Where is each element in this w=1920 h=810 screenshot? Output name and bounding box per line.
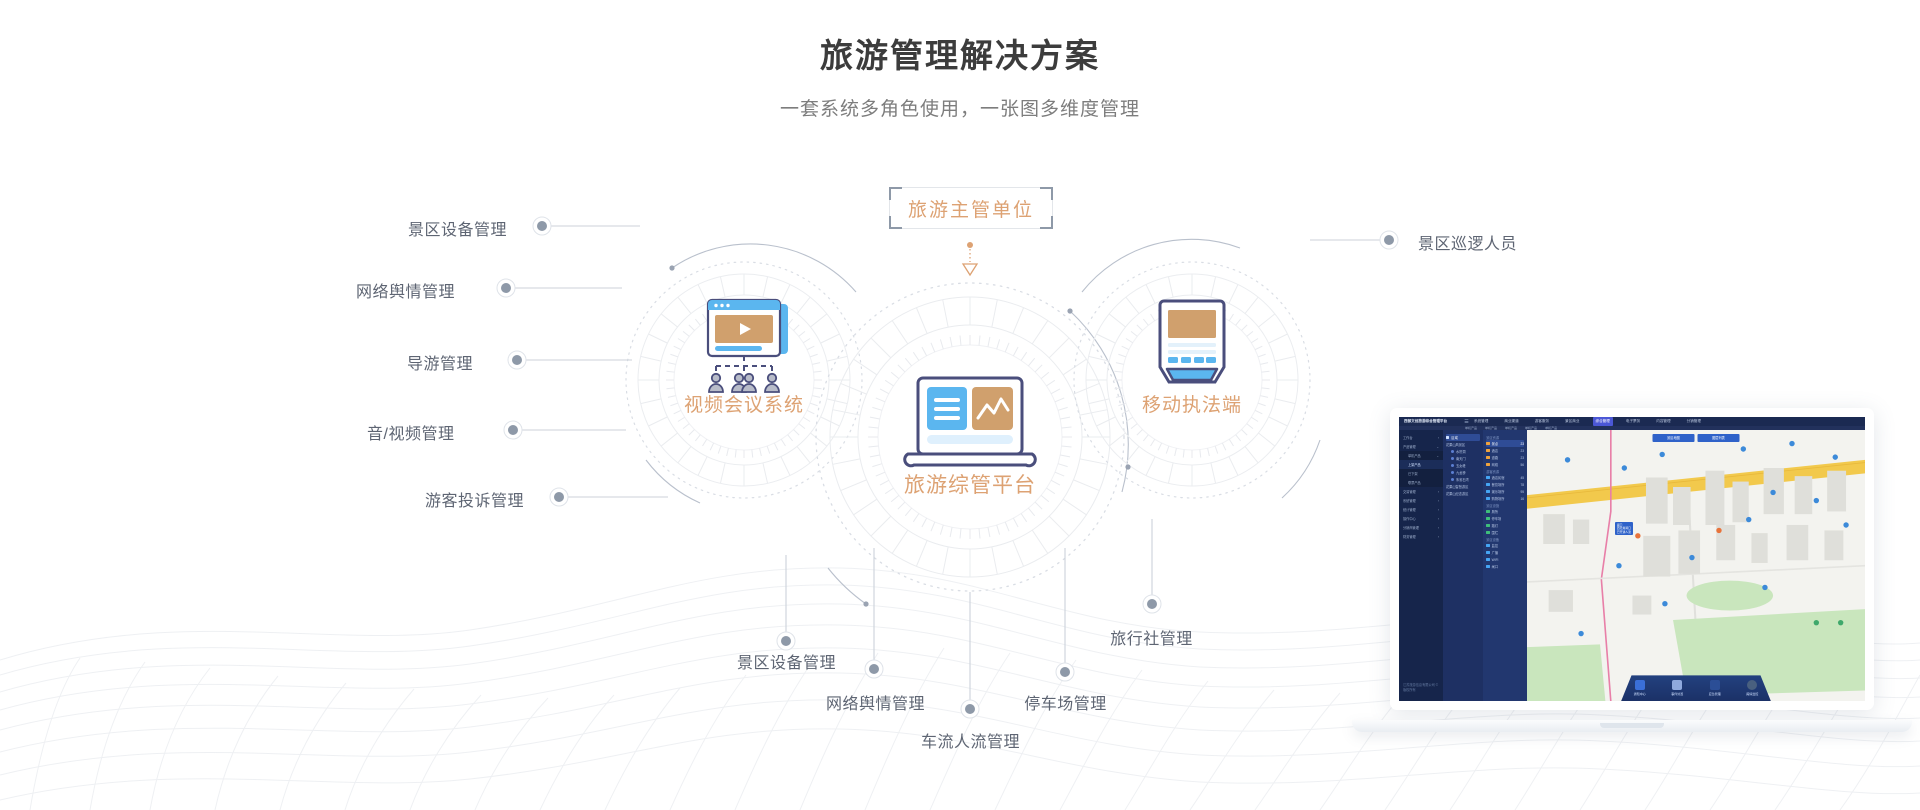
chevron-down-icon-2: ⌄ [1436,454,1439,458]
mock-nav-item-2[interactable]: 游客服务 [1532,417,1552,426]
left-label-2[interactable]: 导游管理 [407,350,473,374]
mock-legend-item-2-2[interactable]: 路灯 [1486,522,1524,529]
hamburger-icon[interactable]: ☰ [1462,419,1471,425]
mock-app-nav: 系统管理 商业渠道 游客服务 景区商业 综合管理 电子票务 内容管理 分销管理 [1471,417,1704,426]
corner-bottom-right [1040,216,1053,229]
mock-legend-item-2-0[interactable]: 厕所 [1486,508,1524,515]
left-label-1[interactable]: 网络舆情管理 [356,278,455,302]
mock-map-control-0[interactable]: 景区地图 [1653,434,1695,442]
mock-nav-item-0[interactable]: 系统管理 [1471,417,1491,426]
mock-legend-item-3-1[interactable]: 广播 [1486,549,1524,556]
laptop-dashboard-icon [905,378,1036,466]
mock-legend-item-3-2[interactable]: WIFI [1486,556,1524,563]
mock-map-graphics [1527,430,1865,701]
mock-tree-child-3[interactable]: 九龙桥 [1446,469,1480,476]
left-ring-group [626,244,862,503]
laptop-screen-content: 西部文创旅游综合管理平台 ☰ 系统管理 商业渠道 游客服务 景区商业 综合管理 … [1399,417,1865,701]
mock-sidebar-label-5: 联票产品 [1408,480,1421,485]
laptop-notch [1600,723,1664,728]
mock-legend-item-1-3[interactable]: 购物场所16 [1486,495,1524,502]
mock-sidebar-label-4: 已下架 [1408,471,1418,476]
chevron-right-icon: › [1438,436,1439,440]
mock-app: 西部文创旅游综合管理平台 ☰ 系统管理 商业渠道 游客服务 景区商业 综合管理 … [1399,417,1865,701]
node-label-mobile-enforcement[interactable]: 移动执法端 [1092,390,1292,417]
mock-sidebar-item-4[interactable]: 已下架 [1399,469,1443,478]
department-box[interactable]: 旅游主管单位 [889,187,1053,229]
mock-sidebar-item-10[interactable]: 分销商管理› [1399,523,1443,532]
mock-legend-item-1-1[interactable]: 餐饮场所78 [1486,481,1524,488]
mock-map-control-1[interactable]: 图层列表 [1698,434,1740,442]
mock-sidebar-item-8[interactable]: 统计管理› [1399,505,1443,514]
video-conference-icon [708,300,788,392]
mock-sidebar-footer: 江苏旅游信息有限公司 © 版权所有 [1399,679,1443,701]
mock-nav-item-4[interactable]: 综合管理 [1593,417,1613,426]
mock-sidebar-label-11: 财务管理 [1403,534,1416,539]
corner-bottom-left [889,216,902,229]
mock-map-canvas[interactable]: 景区地图 图层列表 闸口 西北角闸口 已开通人流 通知中心 事件处置 应急管理 … [1527,430,1865,701]
mock-sidebar-item-2[interactable]: 单机产品⌄ [1399,451,1443,460]
handheld-terminal-icon [1160,301,1224,382]
right-leader-dots [1380,231,1398,249]
mock-sidebar-label-6: 交易管理 [1403,489,1416,494]
corner-top-left [889,187,902,200]
mock-tree-child-4[interactable]: 朱雀石湾 [1446,476,1480,483]
bottom-label-4[interactable]: 旅行社管理 [1094,625,1209,649]
chevron-down-icon: ⌄ [1436,445,1439,449]
page-root: 旅游管理解决方案 一套系统多角色使用，一张图多维度管理 [0,0,1920,810]
left-leader-dots [497,217,568,506]
mock-sidebar-item-0[interactable]: 工作台› [1399,433,1443,442]
mock-legend-item-2-1[interactable]: 停车场 [1486,515,1524,522]
mock-legend-item-0-1[interactable]: 酒店23 [1486,447,1524,454]
mock-map-controls: 景区地图 图层列表 [1653,434,1740,442]
chevron-right-icon-9: › [1438,517,1439,521]
right-label-0[interactable]: 景区巡逻人员 [1418,230,1517,254]
mock-filter-panel: 区域 花果山风景区 水帘洞 南天门 玉女峰 九龙桥 朱雀石湾 花果山智慧游区 花… [1443,430,1527,701]
mock-tree-column: 区域 花果山风景区 水帘洞 南天门 玉女峰 九龙桥 朱雀石湾 花果山智慧游区 花… [1443,430,1483,701]
mock-sidebar: 工作台› 产品管理⌄ 单机产品⌄ 上架产品 已下架 联票产品 交易管理› 系统管… [1399,430,1443,701]
mock-sidebar-item-3[interactable]: 上架产品 [1399,460,1443,469]
mock-sidebar-label-0: 工作台 [1403,435,1413,440]
mock-tree-child-2[interactable]: 玉女峰 [1446,462,1480,469]
mock-nav-item-5[interactable]: 电子票务 [1623,417,1643,426]
chevron-right-icon-7: › [1438,499,1439,503]
mock-sidebar-label-9: 操作中心 [1403,516,1416,521]
chevron-right-icon-6: › [1438,490,1439,494]
bottom-label-0[interactable]: 景区设备管理 [729,649,844,673]
node-label-tourism-platform[interactable]: 旅游综管平台 [870,469,1070,499]
mock-sidebar-label-3: 上架产品 [1408,462,1421,467]
mock-tree-title[interactable]: 区域 [1446,434,1480,441]
mock-dock-item-2[interactable]: 应急管理 [1702,680,1728,696]
mock-tree-child-0[interactable]: 水帘洞 [1446,448,1480,455]
laptop-mockup: 西部文创旅游综合管理平台 ☰ 系统管理 商业渠道 游客服务 景区商业 综合管理 … [1352,408,1912,768]
mock-sidebar-item-1[interactable]: 产品管理⌄ [1399,442,1443,451]
mock-legend-item-0-3[interactable]: 网络56 [1486,461,1524,468]
department-connector-arrow [963,242,977,275]
mock-map-marker-tooltip: 闸口 西北角闸口 已开通人流 [1615,522,1633,535]
mock-legend-item-1-2[interactable]: 娱乐场所95 [1486,488,1524,495]
mock-sidebar-label-2: 单机产品 [1408,453,1421,458]
mock-tree-node-1[interactable]: 花果山智慧游区 [1446,483,1480,490]
chevron-right-icon-8: › [1438,508,1439,512]
chevron-right-icon-11: › [1438,535,1439,539]
left-label-3[interactable]: 音/视频管理 [367,420,454,444]
mock-sidebar-item-6[interactable]: 交易管理› [1399,487,1443,496]
mock-app-body: 工作台› 产品管理⌄ 单机产品⌄ 上架产品 已下架 联票产品 交易管理› 系统管… [1399,430,1865,701]
bottom-label-2[interactable]: 车流人流管理 [913,728,1028,752]
mock-legend-item-0-0[interactable]: 景点23 [1486,440,1524,447]
mock-nav-item-1[interactable]: 商业渠道 [1501,417,1521,426]
left-label-0[interactable]: 景区设备管理 [408,216,507,240]
mock-legend-item-2-3[interactable]: 围栏 [1486,529,1524,536]
bottom-label-1[interactable]: 网络舆情管理 [818,690,933,714]
mock-legend-item-3-0[interactable]: 监控 [1486,542,1524,549]
mock-sidebar-label-10: 分销商管理 [1403,525,1419,530]
mock-nav-item-3[interactable]: 景区商业 [1562,417,1582,426]
node-label-video-conference[interactable]: 视频会议系统 [644,390,844,417]
mock-sidebar-item-5[interactable]: 联票产品 [1399,478,1443,487]
corner-top-right [1040,187,1053,200]
mock-tree-child-1[interactable]: 南天门 [1446,455,1480,462]
laptop-screen: 西部文创旅游综合管理平台 ☰ 系统管理 商业渠道 游客服务 景区商业 综合管理 … [1390,408,1874,710]
mock-tree-node-2[interactable]: 花果山纪念游区 [1446,490,1480,497]
mock-map-dock: 通知中心 事件处置 应急管理 舆情监控 [1621,675,1771,701]
mock-sidebar-label-8: 统计管理 [1403,507,1416,512]
mock-app-logo: 西部文创旅游综合管理平台 [1399,419,1462,424]
mock-sidebar-item-7[interactable]: 系统管理› [1399,496,1443,505]
mock-nav-item-6[interactable]: 内容管理 [1653,417,1673,426]
chevron-right-icon-10: › [1438,526,1439,530]
mock-dock-item-0[interactable]: 通知中心 [1627,680,1653,696]
mock-legend-item-3-3[interactable]: 闸口 [1486,563,1524,570]
mock-tree-node-0[interactable]: 花果山风景区 [1446,441,1480,448]
mock-dock-item-1[interactable]: 事件处置 [1664,680,1690,696]
mock-dock-item-3[interactable]: 舆情监控 [1739,680,1765,696]
mock-sidebar-item-9[interactable]: 操作中心› [1399,514,1443,523]
mock-sidebar-item-11[interactable]: 财务管理› [1399,532,1443,541]
mock-nav-item-7[interactable]: 分销管理 [1684,417,1704,426]
mock-sidebar-label-7: 系统管理 [1403,498,1416,503]
mock-legend-column: 景区资源 景点23 酒店23 道路23 网络56 游客资源 酒店民宿45 餐饮场… [1483,430,1527,701]
mock-legend-item-1-0[interactable]: 酒店民宿45 [1486,474,1524,481]
left-label-4[interactable]: 游客投诉管理 [425,487,524,511]
left-leader-lines [514,226,668,497]
mock-legend-item-0-2[interactable]: 道路23 [1486,454,1524,461]
mock-app-topbar: 西部文创旅游综合管理平台 ☰ 系统管理 商业渠道 游客服务 景区商业 综合管理 … [1399,417,1865,426]
bottom-label-3[interactable]: 停车场管理 [1008,690,1123,714]
department-box-label: 旅游主管单位 [890,188,1052,228]
mock-sidebar-label-1: 产品管理 [1403,444,1416,449]
